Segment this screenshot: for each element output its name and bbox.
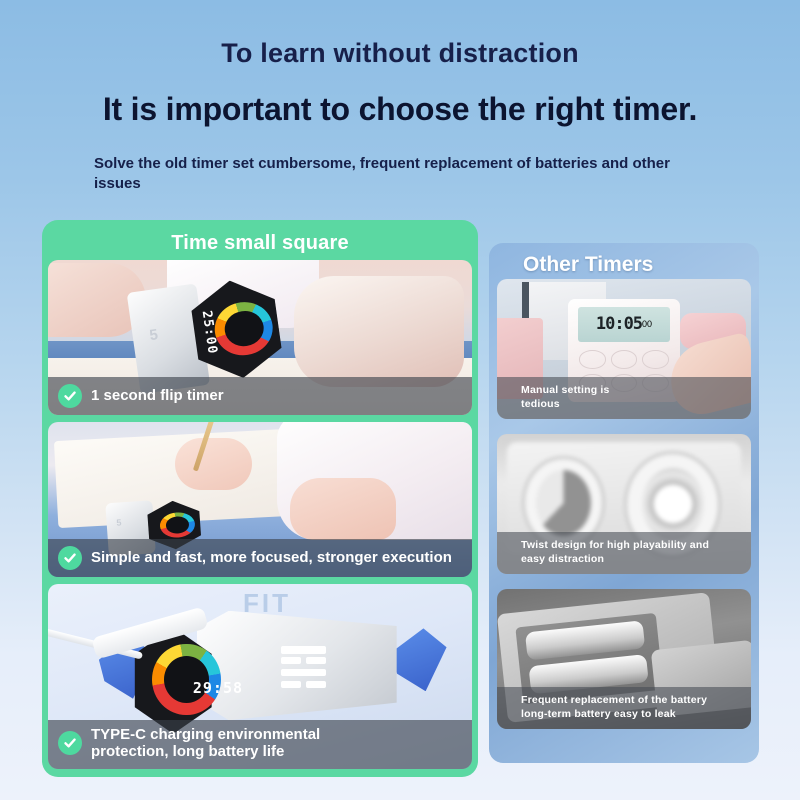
page-title: It is important to choose the right time… — [0, 91, 800, 128]
caption-line-2: easy distraction — [521, 552, 743, 566]
lcd-time: 10:05 — [596, 314, 642, 334]
left-card-list: 25:00 5 1 second flip timer — [48, 260, 472, 769]
check-icon — [58, 731, 82, 755]
card-caption: TYPE-C charging environmental protection… — [48, 720, 472, 769]
caption-line-1: Twist design for high playability and — [521, 538, 743, 552]
caption-text: Simple and fast, more focused, stronger … — [91, 549, 452, 567]
caption-line-1: Manual setting is — [521, 383, 743, 397]
list-item[interactable]: 5 Simple and fast, more focused, stronge… — [48, 422, 472, 577]
card-caption: Frequent replacement of the battery long… — [497, 687, 751, 729]
caption-line-2: long-term battery easy to leak — [521, 707, 743, 721]
seven-segment-glyph — [281, 646, 339, 693]
lcd-display: 10:0500 — [578, 307, 670, 342]
list-item[interactable]: 10:0500 Manual setting is tedious — [497, 279, 751, 419]
hex-timer-device: 25:00 5 — [126, 272, 291, 395]
right-comparison-panel: Other Timers 10:0500 — [489, 243, 759, 763]
caption-text: 1 second flip timer — [91, 387, 224, 405]
subheading-text: Solve the old timer set cumbersome, freq… — [94, 154, 706, 194]
eyebrow-heading: To learn without distraction — [0, 38, 800, 69]
list-item[interactable]: FIT 29:58 — [48, 584, 472, 769]
card-caption: 1 second flip timer — [48, 377, 472, 415]
card-caption: Manual setting is tedious — [497, 377, 751, 419]
check-icon — [58, 384, 82, 408]
caption-line-1: TYPE-C charging environmental — [91, 726, 320, 744]
right-card-list: 10:0500 Manual setting is tedious — [497, 279, 751, 729]
card-caption: Simple and fast, more focused, stronger … — [48, 539, 472, 577]
right-panel-title: Other Timers — [523, 253, 653, 277]
caption-line-1: Frequent replacement of the battery — [521, 693, 743, 707]
check-icon — [58, 546, 82, 570]
caption-text-block: TYPE-C charging environmental protection… — [91, 726, 320, 761]
caption-line-2: protection, long battery life — [91, 743, 320, 761]
left-product-panel: Time small square 25:00 5 — [42, 220, 478, 777]
card-caption: Twist design for high playability and ea… — [497, 532, 751, 574]
lcd-seconds: 00 — [642, 319, 652, 329]
header-block: To learn without distraction It is impor… — [0, 0, 800, 194]
list-item[interactable]: Twist design for high playability and ea… — [497, 434, 751, 574]
list-item[interactable]: 25:00 5 1 second flip timer — [48, 260, 472, 415]
left-panel-title: Time small square — [48, 226, 472, 260]
caption-line-2: tedious — [521, 397, 743, 411]
promo-poster: To learn without distraction It is impor… — [0, 0, 800, 800]
list-item[interactable]: Frequent replacement of the battery long… — [497, 589, 751, 729]
